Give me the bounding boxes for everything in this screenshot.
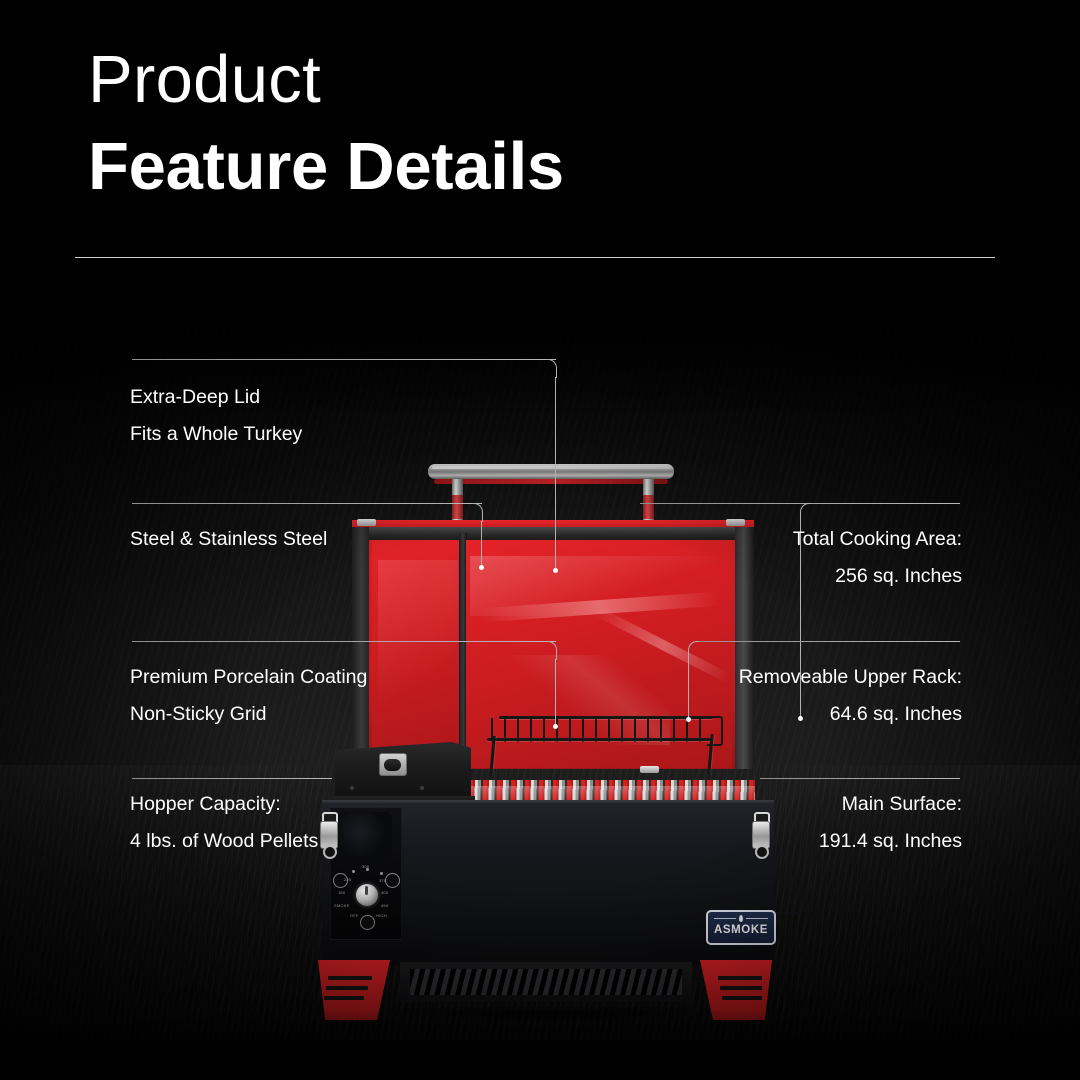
infographic-canvas: 225 300 375 180 400 SMOKE 450 OFF HIGH A… — [0, 0, 1080, 1080]
callout-right-1-line-1: Total Cooking Area: — [793, 520, 962, 558]
divider-left-1 — [132, 359, 556, 360]
callout-left-3-line-1: Premium Porcelain Coating — [130, 658, 367, 696]
callout-right-2-line-1: Removeable Upper Rack: — [739, 658, 962, 696]
callout-right-3-line-1: Main Surface: — [842, 785, 962, 823]
connector-elbow-2 — [472, 503, 483, 522]
connector-elbow-r2 — [688, 641, 699, 660]
connector-dot-r2 — [686, 717, 691, 722]
connector-dot-2 — [479, 565, 484, 570]
page-title: Product Feature Details — [88, 46, 564, 200]
connector-line-1 — [555, 377, 556, 570]
connector-dot-3 — [553, 724, 558, 729]
connector-elbow-1 — [546, 359, 557, 378]
callout-left-3-line-2: Non-Sticky Grid — [130, 695, 267, 733]
photo-bottom-fade — [0, 1010, 1080, 1080]
divider-right-3 — [760, 778, 960, 779]
callout-right-2-line-2: 64.6 sq. Inches — [830, 695, 962, 733]
connector-elbow-3 — [546, 641, 557, 660]
header-divider — [75, 257, 995, 258]
connector-dot-r1 — [798, 716, 803, 721]
callout-left-4-line-2: 4 lbs. of Wood Pellets — [130, 822, 318, 860]
connector-line-2 — [481, 521, 482, 567]
divider-left-2 — [132, 503, 482, 504]
callout-left-2-line-1: Steel & Stainless Steel — [130, 520, 327, 558]
callout-left-1-line-1: Extra-Deep Lid — [130, 378, 260, 416]
divider-right-2 — [698, 641, 960, 642]
title-line-2: Feature Details — [88, 133, 564, 200]
divider-left-3 — [132, 641, 556, 642]
connector-dot-1 — [553, 568, 558, 573]
callout-right-3-line-2: 191.4 sq. Inches — [819, 822, 962, 860]
callout-left-1-line-2: Fits a Whole Turkey — [130, 415, 302, 453]
callout-left-4-line-1: Hopper Capacity: — [130, 785, 281, 823]
callout-right-1-line-2: 256 sq. Inches — [835, 557, 962, 595]
divider-left-4 — [132, 778, 332, 779]
connector-line-r2 — [688, 659, 689, 719]
divider-right-1 — [640, 503, 960, 504]
title-line-1: Product — [88, 46, 564, 113]
connector-line-3 — [555, 659, 556, 727]
